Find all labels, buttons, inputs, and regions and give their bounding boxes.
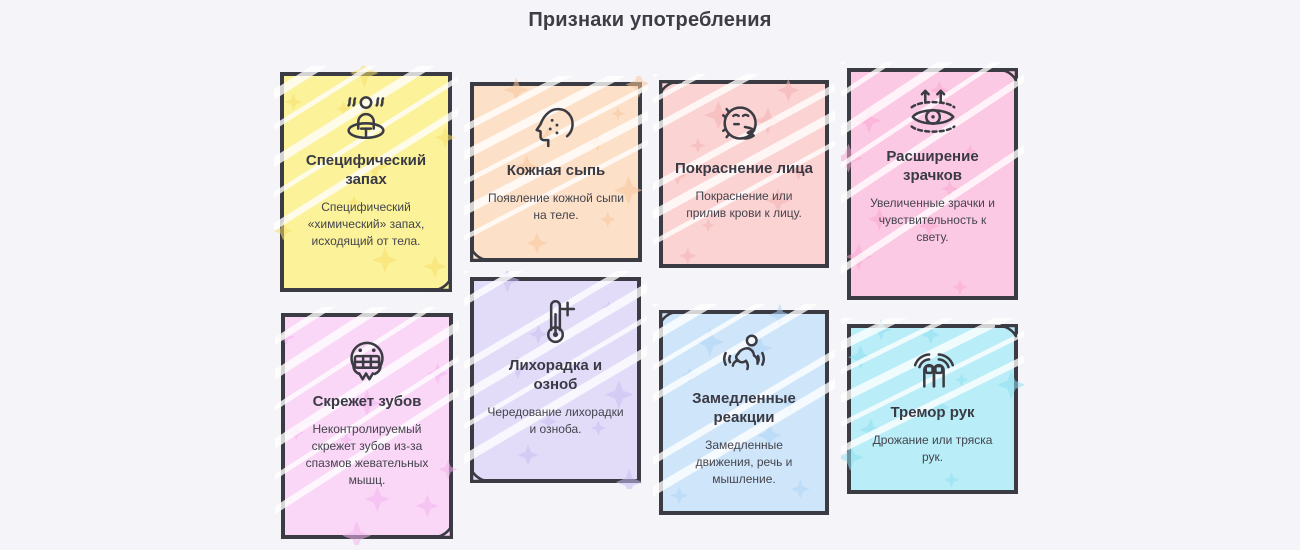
card-description: Неконтролируемый скрежет зубов из-за спа… [297, 421, 437, 489]
sign-card-specific-smell[interactable]: Специфический запахСпецифический «химиче… [280, 72, 452, 292]
card-description: Замедленные движения, речь и мышление. [675, 437, 813, 488]
grinding-teeth-icon [336, 331, 398, 387]
sign-card-hand-tremor[interactable]: Тремор рукДрожание или тряска рук. [847, 324, 1018, 494]
sign-card-dilated-pupils[interactable]: Расширение зрачковУвеличенные зрачки и ч… [847, 68, 1018, 300]
card-title: Лихорадка и озноб [486, 357, 625, 395]
paper-fold-corner [995, 69, 1017, 89]
card-content: Покраснение лицаПокраснение или прилив к… [675, 98, 813, 222]
paper-fold-corner [660, 81, 682, 101]
paper-fold-corner [660, 311, 682, 331]
card-title: Расширение зрачков [863, 148, 1002, 186]
paper-fold-corner [429, 271, 451, 291]
card-title: Скрежет зубов [313, 393, 422, 412]
card-title: Кожная сыпь [507, 162, 606, 181]
card-content: Лихорадка и ознобЧередование лихорадки и… [486, 295, 625, 438]
card-title: Специфический запах [296, 152, 436, 190]
sign-card-slow-reactions[interactable]: Замедленные реакцииЗамедленные движения,… [659, 310, 829, 515]
sign-card-skin-rash[interactable]: Кожная сыпьПоявление кожной сыпи на теле… [470, 82, 642, 262]
card-description: Специфический «химический» запах, исходя… [296, 199, 436, 250]
dilated-eye-icon [902, 86, 964, 142]
paper-fold-corner [995, 325, 1017, 345]
card-description: Покраснение или прилив крови к лицу. [675, 188, 813, 222]
head-rash-icon [525, 100, 587, 156]
signs-card-grid: Специфический запахСпецифический «химиче… [0, 0, 1300, 546]
card-title: Замедленные реакции [675, 390, 813, 428]
card-description: Увеличенные зрачки и чувствительность к … [863, 195, 1002, 246]
paper-fold-corner [471, 462, 493, 482]
sign-card-facial-flushing[interactable]: Покраснение лицаПокраснение или прилив к… [659, 80, 829, 268]
card-description: Дрожание или тряска рук. [863, 432, 1002, 466]
sign-card-fever-chills[interactable]: Лихорадка и ознобЧередование лихорадки и… [470, 277, 641, 483]
paper-fold-corner [430, 518, 452, 538]
card-content: Кожная сыпьПоявление кожной сыпи на теле… [486, 100, 626, 224]
card-content: Специфический запахСпецифический «химиче… [296, 90, 436, 250]
card-title: Покраснение лица [675, 160, 813, 179]
card-content: Замедленные реакцииЗамедленные движения,… [675, 328, 813, 488]
tremor-hand-icon [902, 342, 964, 398]
card-content: Скрежет зубовНеконтролируемый скрежет зу… [297, 331, 437, 489]
flushed-face-icon [713, 98, 775, 154]
running-figure-icon [713, 328, 775, 384]
card-description: Появление кожной сыпи на теле. [486, 190, 626, 224]
card-description: Чередование лихорадки и озноба. [486, 404, 625, 438]
card-title: Тремор рук [890, 404, 974, 423]
card-content: Расширение зрачковУвеличенные зрачки и ч… [863, 86, 1002, 246]
paper-fold-corner [471, 241, 493, 261]
thermometer-icon [525, 295, 587, 351]
sign-card-teeth-grinding[interactable]: Скрежет зубовНеконтролируемый скрежет зу… [281, 313, 453, 539]
card-content: Тремор рукДрожание или тряска рук. [863, 342, 1002, 466]
body-odor-icon [335, 90, 397, 146]
